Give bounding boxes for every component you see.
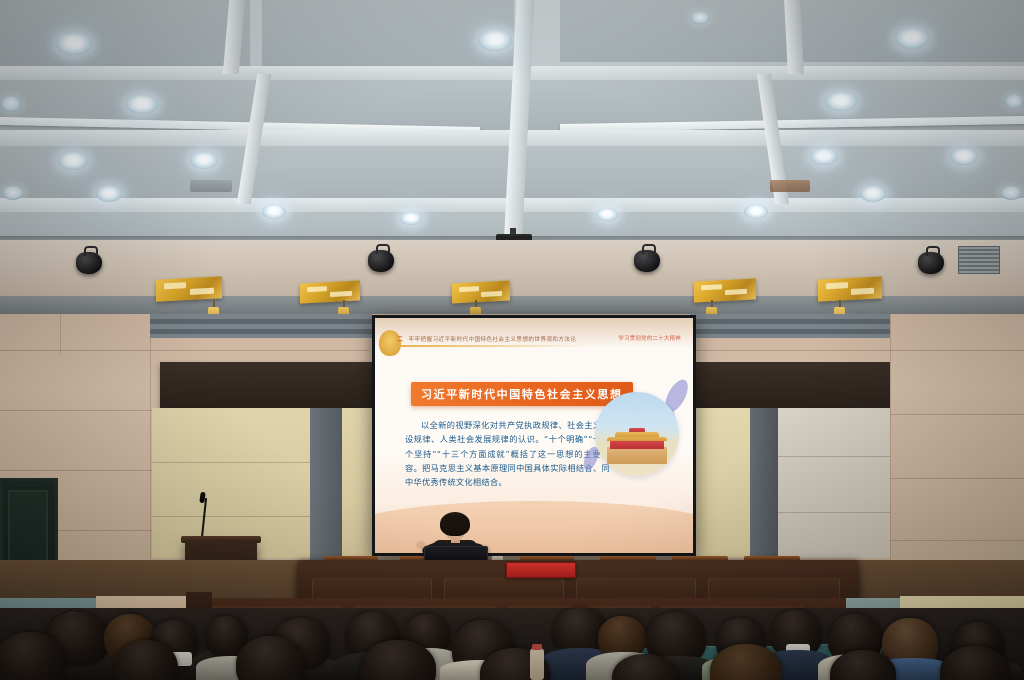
pendant-stem xyxy=(839,300,841,307)
ceiling-coffer xyxy=(262,0,514,66)
gold-panel-cell xyxy=(725,289,747,295)
slide-header-rule xyxy=(399,345,589,347)
ceiling-downlight xyxy=(58,152,88,170)
gold-panel-cell xyxy=(481,291,502,297)
red-nameplate xyxy=(506,562,576,578)
ceiling-downlight xyxy=(2,186,24,200)
stage-pillar-right xyxy=(750,408,778,560)
stage-spotlight xyxy=(634,250,664,276)
spotlight-yoke xyxy=(642,244,656,254)
presentation-slide: 二 牢牢把握习近平新时代中国特色社会主义思想的世界观和方法论 学习贯彻党的二十大… xyxy=(375,318,693,553)
ceiling-vent-panel xyxy=(190,180,232,192)
louver-band-right xyxy=(690,314,890,338)
stage-wall-dark-band-right xyxy=(690,362,890,408)
gold-panel-cell xyxy=(307,286,327,292)
wall-seam xyxy=(690,350,1024,351)
projection-screen: 二 牢牢把握习近平新时代中国特色社会主义思想的世界观和方法论 学习贯彻党的二十大… xyxy=(372,315,696,556)
tiananmen-gate-illustration xyxy=(595,392,679,476)
slide-top-shading xyxy=(375,318,693,348)
ceiling-downlight xyxy=(744,204,768,219)
gate-base xyxy=(607,447,667,464)
gate-roof-upper xyxy=(615,432,659,437)
pendant-stem xyxy=(343,300,345,307)
ceiling-downlight xyxy=(596,208,618,221)
gold-panel-cell xyxy=(330,291,352,297)
ceiling-downlight xyxy=(690,12,710,24)
gold-panel-cell xyxy=(701,284,722,290)
wall-seam xyxy=(152,516,310,517)
wall-seam xyxy=(778,456,890,457)
ceiling-downlight xyxy=(1004,94,1024,109)
ceiling-downlight xyxy=(96,186,122,202)
pendant-stem xyxy=(213,300,215,307)
ceiling-downlight xyxy=(126,95,158,114)
slide-body-text: 以全新的视野深化对共产党执政规律、社会主义建设规律、人类社会发展规律的认识。“十… xyxy=(405,418,610,490)
stage-spotlight xyxy=(368,250,398,276)
ceiling-downlight xyxy=(950,148,978,165)
lecture-hall-photo: 二 牢牢把握习近平新时代中国特色社会主义思想的世界观和方法论 学习贯彻党的二十大… xyxy=(0,0,1024,680)
ceiling-vent-panel xyxy=(770,180,810,192)
stage-pillar-left xyxy=(310,408,342,560)
gold-ceiling-panel xyxy=(694,278,756,302)
spotlight-yoke xyxy=(84,246,98,256)
ceiling-downlight xyxy=(1000,186,1022,200)
bottle-cap xyxy=(532,644,542,650)
ceiling-downlight xyxy=(0,96,22,112)
ceiling-downlight xyxy=(860,186,886,202)
gold-panel-cell xyxy=(826,282,848,289)
wall-seam xyxy=(152,462,310,463)
gate-roof-lower xyxy=(607,437,667,442)
stage-wall-cream-right xyxy=(690,408,750,558)
ceiling-downlight xyxy=(56,33,92,55)
louver-band-left xyxy=(150,314,372,338)
pendant-stem xyxy=(711,300,713,307)
gate-wall xyxy=(610,440,663,450)
gold-ceiling-panel xyxy=(818,276,882,301)
ceiling-downlight xyxy=(478,30,512,51)
wall-seam xyxy=(60,314,61,354)
stage-wall-light-right xyxy=(778,408,890,558)
water-bottle xyxy=(530,648,544,680)
gold-panel-cell xyxy=(459,286,479,292)
ceiling-downlight xyxy=(190,152,218,169)
slide-title-band: 习近平新时代中国特色社会主义思想 xyxy=(411,382,633,406)
ceiling-downlight xyxy=(825,92,857,111)
gold-ceiling-panel xyxy=(156,276,222,301)
stage-wall-cream-left2 xyxy=(342,408,372,558)
gold-panel-cell xyxy=(164,282,186,289)
ceiling-coffer xyxy=(0,0,250,66)
gate-shape xyxy=(607,427,667,464)
ceiling-downlight xyxy=(810,148,838,165)
soffit-band xyxy=(0,296,1024,316)
wall-seam xyxy=(778,512,890,513)
slide-header-number: 二 xyxy=(397,334,404,343)
wall-seam xyxy=(0,350,370,351)
spotlight-yoke xyxy=(926,246,940,256)
gold-panel-cell xyxy=(851,288,874,295)
gate-top xyxy=(629,428,646,432)
stage-spotlight xyxy=(76,252,106,278)
slide-header-title: 牢牢把握习近平新时代中国特色社会主义思想的世界观和方法论 xyxy=(409,335,577,343)
presenter-fringe xyxy=(441,515,469,525)
ceiling-coffer xyxy=(560,0,790,62)
gold-panel-cell xyxy=(190,288,214,295)
ceiling-downlight xyxy=(262,204,286,219)
stage-spotlight xyxy=(918,252,948,278)
spotlight-yoke xyxy=(376,244,390,254)
ceiling-downlight xyxy=(895,28,929,49)
slide-header-right-text: 学习贯彻党的二十大精神 xyxy=(618,334,681,342)
slide-title: 习近平新时代中国特色社会主义思想 xyxy=(421,386,623,402)
wall-vent-grille xyxy=(958,246,1000,274)
pendant-stem xyxy=(475,300,477,307)
gold-ceiling-panel xyxy=(452,280,510,303)
ceiling xyxy=(0,0,1024,250)
gold-ceiling-panel xyxy=(300,280,360,303)
stage-wall-dark-band-left xyxy=(160,362,372,408)
ceiling-downlight xyxy=(400,212,422,225)
